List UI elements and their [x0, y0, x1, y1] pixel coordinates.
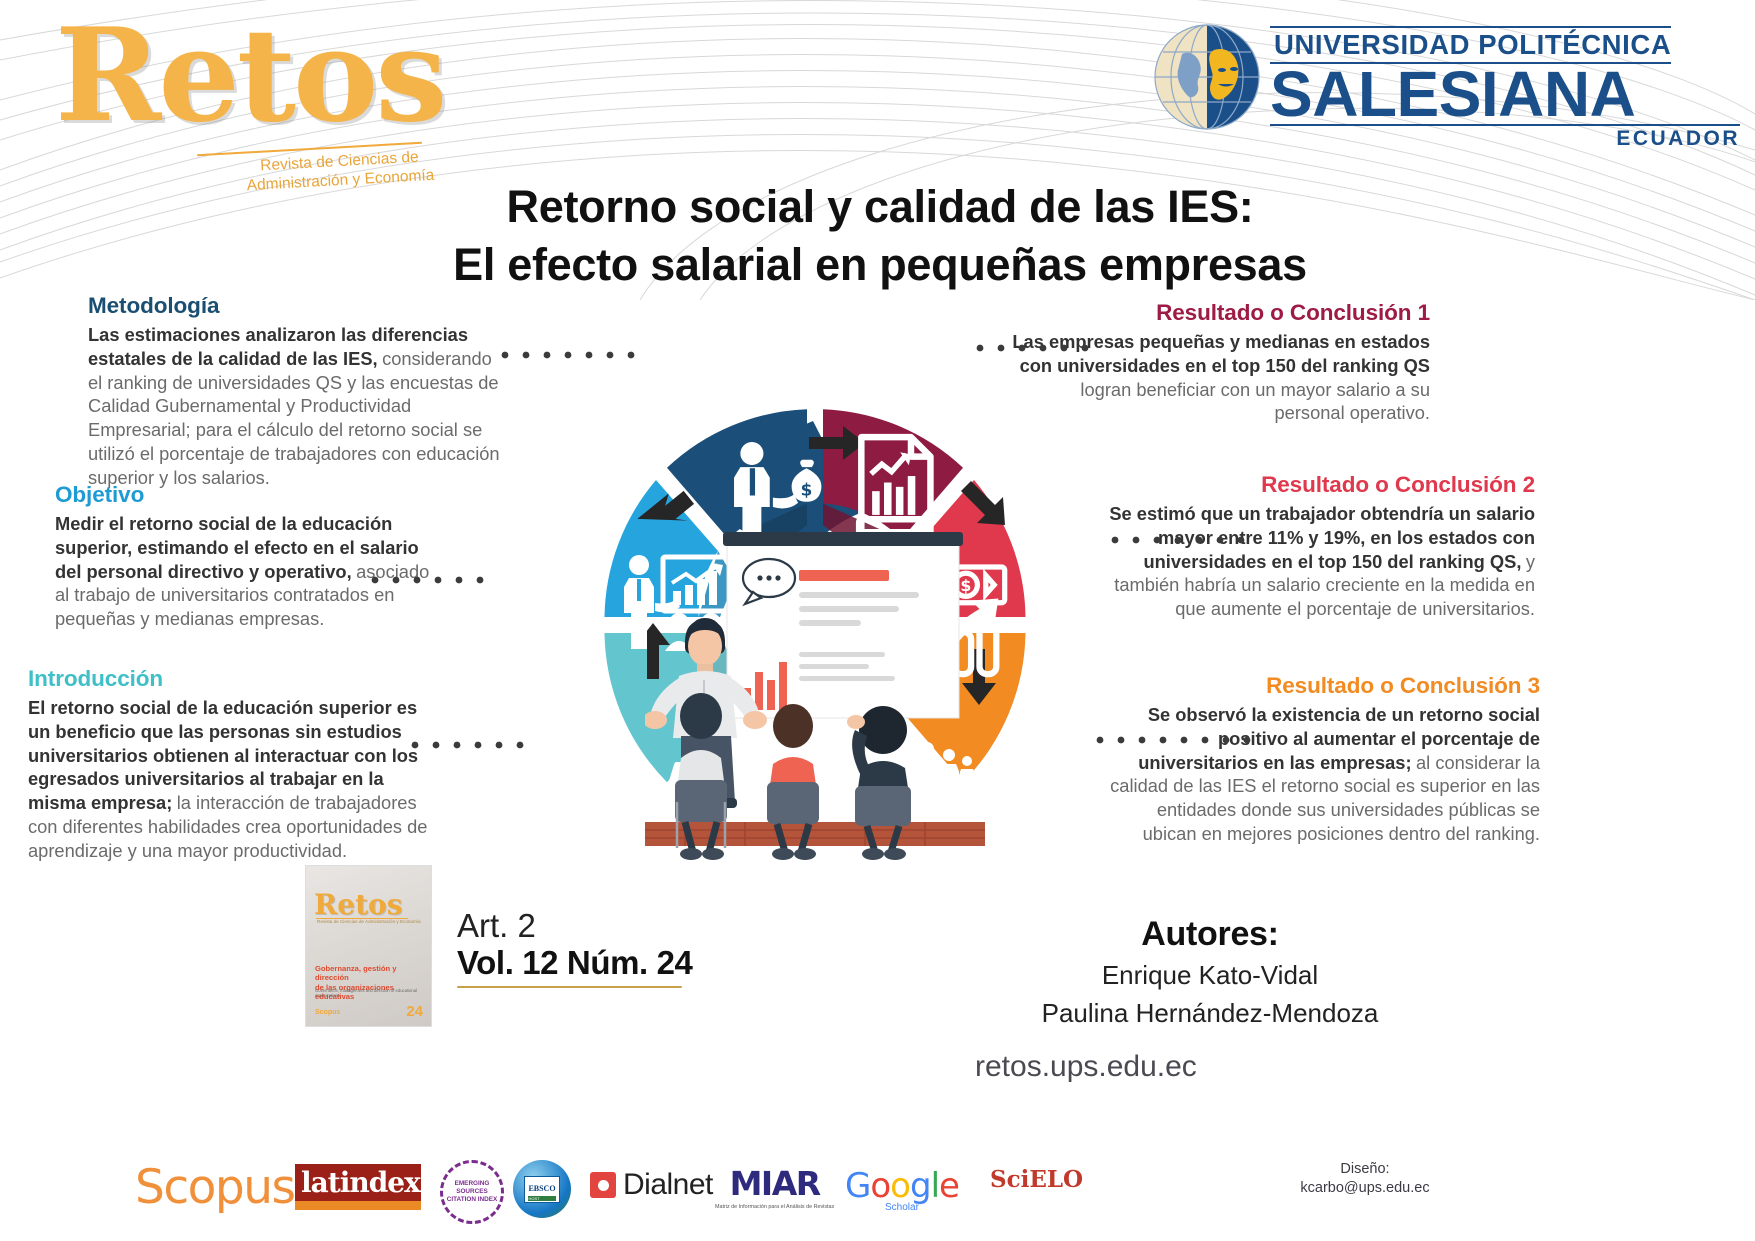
latindex-logo: latindex: [295, 1164, 421, 1210]
scopus-logo: Scopus®: [135, 1148, 309, 1226]
connector-dots-metodologia: [500, 340, 670, 370]
university-line2: SALESIANA: [1270, 65, 1740, 124]
journal-name: Retos: [55, 12, 475, 140]
dialnet-mark-icon: [590, 1172, 616, 1198]
title-line2: El efecto salarial en pequeñas empresas: [270, 236, 1490, 294]
scielo-logo: SciELO: [990, 1166, 1083, 1193]
authors-block: Autores: Enrique Kato-Vidal Paulina Hern…: [960, 915, 1460, 1031]
section-resultado-1-rest: logran beneficiar con un mayor salario a…: [1080, 379, 1430, 424]
section-metodologia: Metodología Las estimaciones analizaron …: [88, 293, 508, 489]
section-objetivo-heading: Objetivo: [55, 482, 435, 508]
article-number: Art. 2: [457, 908, 757, 944]
dialnet-logo: Dialnet: [590, 1168, 713, 1202]
poster-root: Retos Revista de Ciencias de Administrac…: [0, 0, 1755, 1241]
section-objetivo: Objetivo Medir el retorno social de la e…: [55, 482, 435, 631]
journal-cover-thumbnail: Retos Revista de Ciencias de Administrac…: [305, 865, 432, 1027]
page-title: Retorno social y calidad de las IES: El …: [270, 178, 1490, 293]
latindex-bar: [295, 1201, 421, 1210]
cover-scopus-badge: Scopus: [315, 1009, 340, 1016]
lecture-illustration: [645, 530, 985, 860]
design-label: Diseño:: [1265, 1160, 1465, 1179]
ebsco-logo-text: EBSCO: [528, 1184, 555, 1193]
svg-text:$: $: [801, 480, 813, 500]
cover-issue-subtitle: Governance, management and direction of …: [315, 988, 423, 998]
section-resultado-2-heading: Resultado o Conclusión 2: [1090, 472, 1535, 498]
globe-icon: [1152, 22, 1262, 132]
scielo-logo-text: SciELO: [990, 1166, 1083, 1193]
section-resultado-3-heading: Resultado o Conclusión 3: [1110, 673, 1540, 699]
journal-url[interactable]: retos.ups.edu.ec: [975, 1050, 1197, 1084]
google-scholar-logo: Google Scholar: [845, 1166, 959, 1213]
connector-dots-objetivo: [370, 565, 520, 595]
ebsco-logo: EBSCOHOST: [513, 1160, 571, 1218]
author-name-1: Enrique Kato-Vidal: [960, 958, 1460, 992]
latindex-logo-text: latindex: [301, 1166, 420, 1199]
article-info: Art. 2 Vol. 12 Núm. 24: [457, 908, 757, 988]
cover-journal-name: Retos: [314, 888, 402, 921]
esci-logo: EMERGING SOURCES CITATION INDEX: [440, 1160, 504, 1224]
miar-logo: MIAR Matriz de Información para el Análi…: [715, 1164, 834, 1211]
section-metodologia-heading: Metodología: [88, 293, 508, 319]
author-name-2: Paulina Hernández-Mendoza: [960, 996, 1460, 1030]
miar-logo-sub: Matriz de Información para el Análisis d…: [715, 1204, 834, 1211]
indexing-logos: Scopus® latindex EMERGING SOURCES CITATI…: [135, 1148, 1015, 1226]
section-introduccion: Introducción El retorno social de la edu…: [28, 666, 438, 862]
connector-dots-introduccion: [410, 730, 560, 760]
section-resultado-1-heading: Resultado o Conclusión 1: [1010, 300, 1430, 326]
cover-issue-number: 24: [406, 1003, 423, 1020]
authors-heading: Autores:: [960, 915, 1460, 954]
connector-dots-resultado-3: [1095, 725, 1280, 755]
section-introduccion-heading: Introducción: [28, 666, 438, 692]
connector-dots-resultado-2: [1110, 525, 1270, 555]
section-resultado-3: Resultado o Conclusión 3 Se observó la e…: [1110, 673, 1540, 846]
dialnet-logo-text: Dialnet: [623, 1168, 713, 1202]
connector-dots-resultado-1: [975, 333, 1105, 363]
article-volume: Vol. 12 Núm. 24: [457, 944, 757, 982]
design-credit: Diseño: kcarbo@ups.edu.ec: [1265, 1160, 1465, 1197]
miar-logo-text: MIAR: [715, 1164, 834, 1203]
university-logo: UNIVERSIDAD POLITÉCNICA SALESIANA ECUADO…: [1152, 18, 1742, 143]
title-line1: Retorno social y calidad de las IES:: [270, 178, 1490, 236]
design-email: kcarbo@ups.edu.ec: [1265, 1179, 1465, 1198]
cover-subtitle: Revista de Ciencias de Administración y …: [317, 919, 421, 924]
google-logo-text: Google: [845, 1166, 959, 1206]
article-rule: [457, 986, 682, 988]
university-logo-text: UNIVERSIDAD POLITÉCNICA SALESIANA ECUADO…: [1270, 26, 1740, 151]
journal-masthead: Retos Revista de Ciencias de Administrac…: [55, 12, 475, 177]
